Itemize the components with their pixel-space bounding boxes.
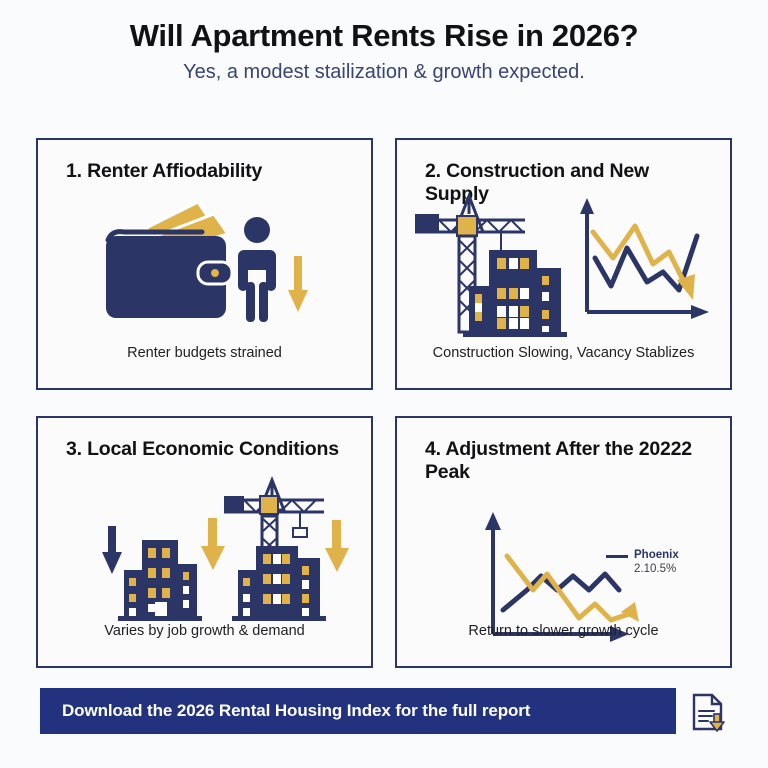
page-title: Will Apartment Rents Rise in 2026? — [0, 18, 768, 54]
y-axis-arrow-icon — [485, 512, 501, 530]
y-axis-arrow-icon — [580, 198, 594, 214]
buildings-icon-left — [118, 540, 202, 621]
legend-swatch-phoenix — [606, 555, 628, 558]
chart-legend: Phoenix 2.10.5% — [606, 548, 718, 577]
down-arrow-icon-navy — [102, 526, 122, 574]
document-download-icon[interactable] — [686, 690, 730, 734]
person-icon — [238, 217, 276, 322]
infographic-page: Will Apartment Rents Rise in 2026? Yes, … — [0, 0, 768, 768]
gold-arrowhead-icon — [621, 602, 639, 622]
download-cta-label: Download the 2026 Rental Housing Index f… — [40, 701, 530, 721]
card-4-caption: Return to slower growth cycle — [397, 622, 730, 640]
header: Will Apartment Rents Rise in 2026? Yes, … — [0, 18, 768, 84]
chart-axes — [587, 210, 697, 312]
x-axis-arrow-icon — [691, 305, 709, 319]
card-adjustment-after-peak[interactable]: 4. Adjustment After the 20222 Peak — [395, 416, 732, 668]
buildings-icon — [463, 250, 567, 337]
buildings-icon-right — [232, 546, 326, 621]
card-2-caption: Construction Slowing, Vacancy Stablizes — [397, 344, 730, 362]
legend-series-name: Phoenix — [634, 548, 679, 562]
card-grid: 1. Renter Affiodability — [36, 138, 732, 670]
card-construction-new-supply[interactable]: 2. Construction and New Supply — [395, 138, 732, 390]
down-arrow-icon-gold-right — [325, 520, 349, 572]
legend-series-value: 2.10.5% — [634, 562, 679, 576]
card-local-economic-conditions[interactable]: 3. Local Economic Conditions — [36, 416, 373, 668]
legend-text: Phoenix 2.10.5% — [634, 548, 679, 577]
card-3-caption: Varies by job growth & demand — [38, 622, 371, 640]
page-subtitle: Yes, a modest stailization & growth expe… — [0, 60, 768, 84]
down-arrow-icon — [288, 256, 308, 312]
card-renter-affordability[interactable]: 1. Renter Affiodability — [36, 138, 373, 390]
card-1-caption: Renter budgets strained — [38, 344, 371, 362]
download-cta-banner[interactable]: Download the 2026 Rental Housing Index f… — [40, 688, 676, 734]
down-arrow-icon-gold-left — [201, 518, 225, 570]
wallet-icon — [106, 232, 232, 318]
